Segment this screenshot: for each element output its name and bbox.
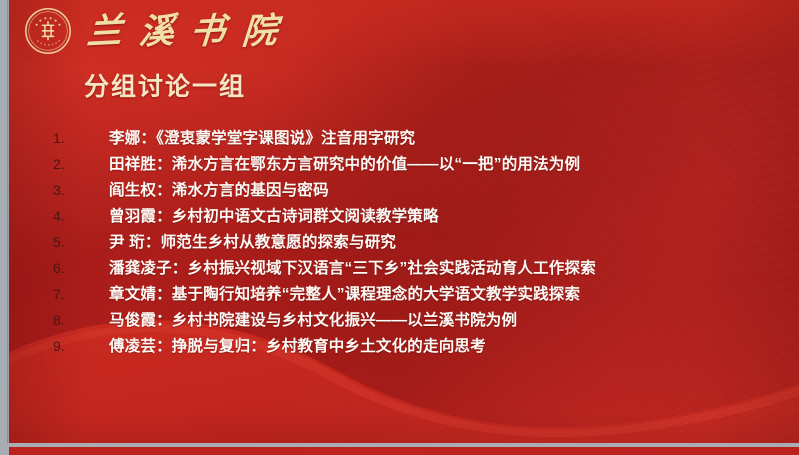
list-item-number: 7.: [53, 286, 109, 302]
list-item: 5. 尹 珩：师范生乡村从教意愿的探索与研究: [53, 230, 753, 256]
slide-canvas: 院 书 溪 兰 分组讨论一组 1. 李娜：《澄衷蒙学堂字课图说》注音用字研究 2…: [9, 0, 799, 443]
list-item-number: 5.: [53, 234, 109, 250]
list-item-number: 1.: [53, 130, 109, 146]
list-item-number: 8.: [53, 312, 109, 328]
list-item-number: 2.: [53, 156, 109, 172]
list-item-label: 马俊霞：乡村书院建设与乡村文化振兴——以兰溪书院为例: [109, 308, 517, 330]
list-item-label: 傅凌芸：挣脱与复归：乡村教育中乡土文化的走向思考: [109, 334, 486, 356]
brand-char-2: 书: [189, 13, 227, 50]
slide-bottom-strip: [9, 447, 799, 455]
list-item-number: 4.: [53, 208, 109, 224]
list-item: 8. 马俊霞：乡村书院建设与乡村文化振兴——以兰溪书院为例: [53, 308, 753, 334]
list-item-label: 李娜：《澄衷蒙学堂字课图说》注音用字研究: [109, 126, 415, 148]
talks-list: 1. 李娜：《澄衷蒙学堂字课图说》注音用字研究 2. 田祥胜：浠水方言在鄂东方言…: [53, 126, 753, 360]
list-item-number: 6.: [53, 260, 109, 276]
list-item-label: 章文婧：基于陶行知培养“完整人”课程理念的大学语文教学实践探索: [109, 282, 580, 304]
list-item-label: 阎生权：浠水方言的基因与密码: [109, 178, 329, 200]
slide-header: 院 书 溪 兰: [9, 0, 799, 62]
brand-calligraphy: 院 书 溪 兰: [87, 6, 277, 56]
list-item: 6. 潘龚凌子：乡村振兴视域下汉语言“三下乡”社会实践活动育人工作探索: [53, 256, 753, 282]
list-item-number: 9.: [53, 338, 109, 354]
bottom-strip-background: [9, 447, 799, 455]
list-item: 2. 田祥胜：浠水方言在鄂东方言研究中的价值——以“一把”的用法为例: [53, 152, 753, 178]
university-seal-emblem: [24, 7, 72, 55]
list-item: 7. 章文婧：基于陶行知培养“完整人”课程理念的大学语文教学实践探索: [53, 282, 753, 308]
list-item: 1. 李娜：《澄衷蒙学堂字课图说》注音用字研究: [53, 126, 753, 152]
brand-char-1: 院: [241, 13, 279, 50]
list-item: 3. 阎生权：浠水方言的基因与密码: [53, 178, 753, 204]
list-item-number: 3.: [53, 182, 109, 198]
list-item: 9. 傅凌芸：挣脱与复归：乡村教育中乡土文化的走向思考: [53, 334, 753, 360]
list-item-label: 曾羽霞：乡村初中语文古诗词群文阅读教学策略: [109, 204, 439, 226]
brand-char-3: 溪: [137, 13, 175, 50]
list-item: 4. 曾羽霞：乡村初中语文古诗词群文阅读教学策略: [53, 204, 753, 230]
list-item-label: 潘龚凌子：乡村振兴视域下汉语言“三下乡”社会实践活动育人工作探索: [109, 256, 596, 278]
list-item-label: 尹 珩：师范生乡村从教意愿的探索与研究: [109, 230, 396, 252]
left-rail-shadow: [7, 0, 9, 443]
presentation-slide-frame: 院 书 溪 兰 分组讨论一组 1. 李娜：《澄衷蒙学堂字课图说》注音用字研究 2…: [0, 0, 799, 455]
list-item-label: 田祥胜：浠水方言在鄂东方言研究中的价值——以“一把”的用法为例: [109, 152, 580, 174]
bottom-divider: [0, 443, 799, 447]
brand-char-4: 兰: [86, 13, 124, 50]
page-title: 分组讨论一组: [84, 74, 246, 102]
